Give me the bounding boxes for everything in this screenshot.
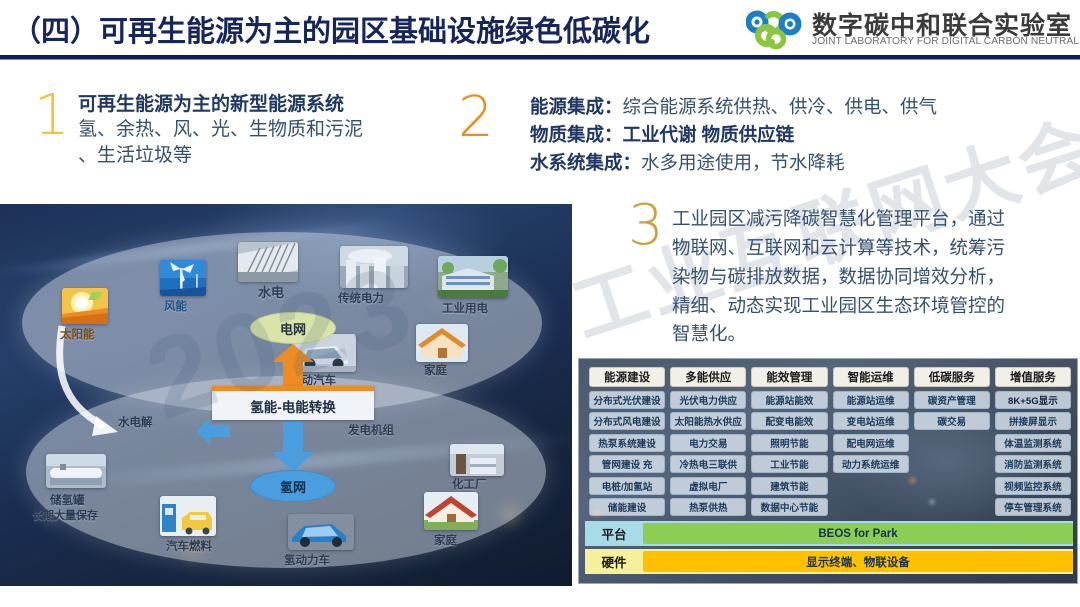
column-header: 低碳服务 [914,367,990,387]
block-2-row-3: 水系统集成：水多用途使用，节水降耗 [530,149,1075,177]
white-flow-arrow-icon [52,324,182,444]
capability-cell[interactable]: 碳资产管理 [914,391,990,409]
capability-cell[interactable]: 变电站运维 [833,412,909,430]
column-value-added-services: 增值服务 8K+5G显示 拼接屏显示 体温监测系统 消防监测系统 视频监控系统 … [995,367,1071,516]
block-1-body-line-1: 氢、余热、风、光、生物质和污泥 [78,117,448,143]
slide-header: （四）可再生能源为主的园区基础设施绿色低碳化 数字碳中和联合实验室 JOINT … [0,0,1080,58]
hardware-row: 硬件 显示终端、物联设备 [585,549,1073,574]
hydrogen-electricity-converter: 氢能-电能转换 [212,386,374,420]
capability-cell[interactable]: 分布式光伏建设 [589,391,665,409]
node-label-vehicle-fuel: 汽车燃料 [166,538,212,554]
node-label-home-lower: 家庭 [434,532,457,548]
column-low-carbon-services: 低碳服务 碳资产管理 碳交易 [914,367,990,516]
node-label-hydrogen-tank-sub: 长期大量保存 [32,507,98,523]
block-2-number: 2 [458,90,494,146]
block-3-body-line-1: 工业园区减污降碳智慧化管理平台，通过 [672,205,1072,234]
arrow-up-icon [272,344,314,388]
capability-cell[interactable]: 碳交易 [914,412,990,430]
block-1-body-line-2: 、生活垃圾等 [78,143,448,169]
chemical-plant-icon [450,444,504,476]
block-3-body-line-3: 染物与碳排放数据，数据协同增效分析， [672,263,1072,292]
hydropower-icon [238,242,298,282]
block-1-number: 1 [34,88,70,144]
column-efficiency-management: 能效管理 能源站能效 配变电能效 照明节能 工业节能 建筑节能 数据中心节能 [751,367,827,516]
capability-cell[interactable]: 配电网运维 [833,434,909,452]
arrow-left-icon [196,418,230,444]
hydrogen-grid-node: 氢网 [250,470,336,502]
capability-cell[interactable]: 冷热电三联供 [670,455,746,473]
page-title: （四）可再生能源为主的园区基础设施绿色低碳化 [12,8,650,50]
capability-cell[interactable]: 工业节能 [751,455,827,473]
node-label-conventional-power: 传统电力 [338,290,384,306]
smart-park-platform-panel: 能源建设 分布式光伏建设 分布式风电建设 热泵系统建设 管网建设 充 电桩/加氢… [578,358,1078,584]
node-label-solar: 太阳能 [60,326,95,342]
node-label-wind: 风能 [164,298,187,314]
capability-cell[interactable]: 动力系统运维 [833,455,909,473]
hydrogen-tank-icon [46,454,106,488]
slide-root: （四）可再生能源为主的园区基础设施绿色低碳化 数字碳中和联合实验室 JOINT … [0,0,1080,607]
capability-cell[interactable]: 电桩/加氢站 [589,477,665,495]
capability-cell[interactable]: 配变电能效 [751,412,827,430]
capability-cell[interactable]: 热泵系统建设 [589,434,665,452]
block-3-body-line-4: 精细、动态实现工业园区生态环境管控的 [672,292,1072,321]
node-label-electrolysis: 水电解 [118,414,153,430]
capability-cell[interactable]: 视频监控系统 [995,477,1071,495]
wind-turbine-icon [160,260,206,296]
block-1-text: 可再生能源为主的新型能源系统 氢、余热、风、光、生物质和污泥 、生活垃圾等 [78,92,448,169]
house-icon [424,492,478,530]
capability-cell[interactable]: 8K+5G显示 [995,391,1071,409]
column-header: 智能运维 [833,367,909,387]
node-label-hydrogen-vehicle: 氢动力车 [284,552,330,568]
column-header: 多能供应 [670,367,746,387]
capability-cell[interactable]: 消防监测系统 [995,455,1071,473]
capability-cell[interactable]: 体温监测系统 [995,434,1071,452]
column-header: 增值服务 [995,367,1071,387]
fuel-station-icon [160,496,216,536]
block-3-number: 3 [628,198,664,254]
column-smart-operations: 智能运维 能源站运维 变电站运维 配电网运维 动力系统运维 [833,367,909,516]
platform-row-bar: BEOS for Park [643,523,1073,544]
platform-row-tag: 平台 [585,521,643,546]
block-2-text: 能源集成：综合能源系统供热、供冷、供电、供气 物质集成：工业代谢 物质供应链 水… [530,93,1075,177]
capability-cell[interactable]: 能源站运维 [833,391,909,409]
block-2-row-1-value: 综合能源系统供热、供冷、供电、供气 [623,96,938,117]
block-2-row-1: 能源集成：综合能源系统供热、供冷、供电、供气 [530,93,1075,121]
platform-row: 平台 BEOS for Park [585,521,1073,546]
block-2-row-2-value: 工业代谢 物质供应链 [623,124,795,145]
capability-cell[interactable]: 太阳能热水供应 [670,412,746,430]
solar-energy-icon [62,288,108,324]
capability-cell[interactable]: 停车管理系统 [995,498,1071,516]
energy-system-diagram: 太阳能 风能 [0,204,572,586]
node-label-hydropower: 水电 [258,282,284,301]
block-1-heading: 可再生能源为主的新型能源系统 [78,92,448,117]
column-header: 能效管理 [751,367,827,387]
capability-cell[interactable]: 拼接屏显示 [995,412,1071,430]
capability-cell[interactable]: 能源站能效 [751,391,827,409]
capability-cell[interactable]: 电力交易 [670,434,746,452]
arrow-down-icon [272,422,314,472]
node-label-home-upper: 家庭 [424,362,447,378]
capability-cell[interactable]: 虚拟电厂 [670,477,746,495]
home-icon [416,324,468,362]
capability-cell[interactable]: 热泵供热 [670,498,746,516]
industrial-plant-icon [438,256,508,298]
block-2-row-1-label: 能源集成： [530,96,623,117]
hardware-row-bar: 显示终端、物联设备 [643,551,1073,572]
block-2-row-3-label: 水系统集成： [530,152,641,173]
capability-cell[interactable]: 分布式风电建设 [589,412,665,430]
capability-cell[interactable]: 储能建设 [589,498,665,516]
block-3-body-line-5: 智慧化。 [672,320,1072,349]
node-label-chemical-plant: 化工厂 [452,476,487,492]
node-label-generator: 发电机组 [348,422,394,438]
header-divider-secondary [0,59,1080,60]
block-3-body-line-2: 物联网、互联网和云计算等技术，统筹污 [672,234,1072,263]
capability-cell[interactable]: 数据中心节能 [751,498,827,516]
capability-cell[interactable]: 光伏电力供应 [670,391,746,409]
lab-logo: 数字碳中和联合实验室 JOINT LABORATORY FOR DIGITAL … [746,6,1076,54]
platform-hardware-rows: 平台 BEOS for Park 硬件 显示终端、物联设备 [585,521,1073,577]
hydrogen-car-icon [288,514,354,550]
interlocking-rings-logo-icon [746,8,806,50]
power-plant-icon [340,246,408,288]
block-2-row-2-label: 物质集成： [530,124,623,145]
column-energy-construction: 能源建设 分布式光伏建设 分布式风电建设 热泵系统建设 管网建设 充 电桩/加氢… [589,367,665,516]
capability-cell[interactable]: 照明节能 [751,434,827,452]
node-label-hydrogen-tank: 储氢罐 [50,492,85,508]
column-multi-energy-supply: 多能供应 光伏电力供应 太阳能热水供应 电力交易 冷热电三联供 虚拟电厂 热泵供… [670,367,746,516]
grid-node: 电网 [250,312,336,344]
capability-cell[interactable]: 建筑节能 [751,477,827,495]
hardware-row-tag: 硬件 [585,549,643,574]
capability-columns: 能源建设 分布式光伏建设 分布式风电建设 热泵系统建设 管网建设 充 电桩/加氢… [589,367,1071,516]
capability-cell[interactable]: 管网建设 充 [589,455,665,473]
node-label-industrial-power: 工业用电 [442,300,488,316]
column-header: 能源建设 [589,367,665,387]
block-2-row-3-value: 水多用途使用，节水降耗 [641,152,845,173]
block-2-row-2: 物质集成：工业代谢 物质供应链 [530,121,1075,149]
block-3-text: 工业园区减污降碳智慧化管理平台，通过 物联网、互联网和云计算等技术，统筹污 染物… [672,205,1072,349]
logo-name-en: JOINT LABORATORY FOR DIGITAL CARBON NEUT… [812,36,1080,47]
